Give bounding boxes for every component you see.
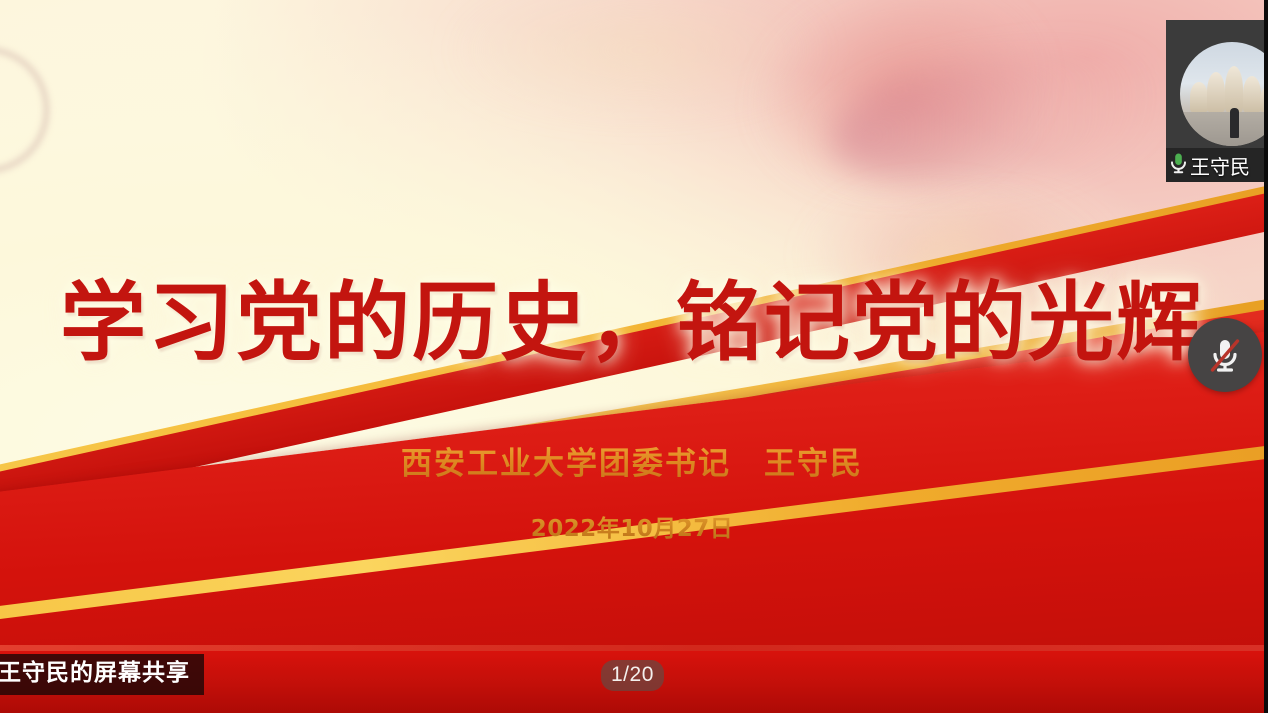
slide-page-indicator: 1/20 — [601, 660, 664, 691]
participant-name-bar: 王守民 — [1166, 148, 1268, 182]
screen-share-indicator: 王守民的屏幕共享 — [0, 654, 204, 695]
participant-name: 王守民 — [1190, 151, 1250, 180]
red-silk-ribbon-icon — [1072, 484, 1255, 605]
mic-active-icon — [1170, 152, 1187, 179]
flag-watermark-icon — [663, 0, 1136, 280]
background-glow-decoration — [380, 0, 900, 130]
avatar — [1180, 42, 1268, 146]
screen-share-stage: 学习党的历史，铭记党的光辉 西安工业大学团委书记 王守民 2022年10月27日… — [0, 0, 1268, 713]
window-frame-edge — [1264, 0, 1268, 713]
slide-date: 2022年10月27日 — [0, 509, 1264, 543]
red-silk-ribbon-icon — [982, 575, 1116, 642]
slide-presenter-line: 西安工业大学团委书记 王守民 — [0, 438, 1264, 483]
shared-slide[interactable]: 学习党的历史，铭记党的光辉 西安工业大学团委书记 王守民 2022年10月27日 — [0, 0, 1264, 713]
banner-watermark-icon — [823, 35, 1168, 205]
ring-watermark-icon — [0, 46, 50, 174]
self-view-video-tile[interactable]: 王守民 — [1166, 20, 1268, 182]
red-silk-ribbon-icon — [1138, 537, 1264, 632]
slide-title: 学习党的历史，铭记党的光辉 — [0, 252, 1264, 377]
mic-mute-toggle-button[interactable] — [1188, 318, 1262, 392]
